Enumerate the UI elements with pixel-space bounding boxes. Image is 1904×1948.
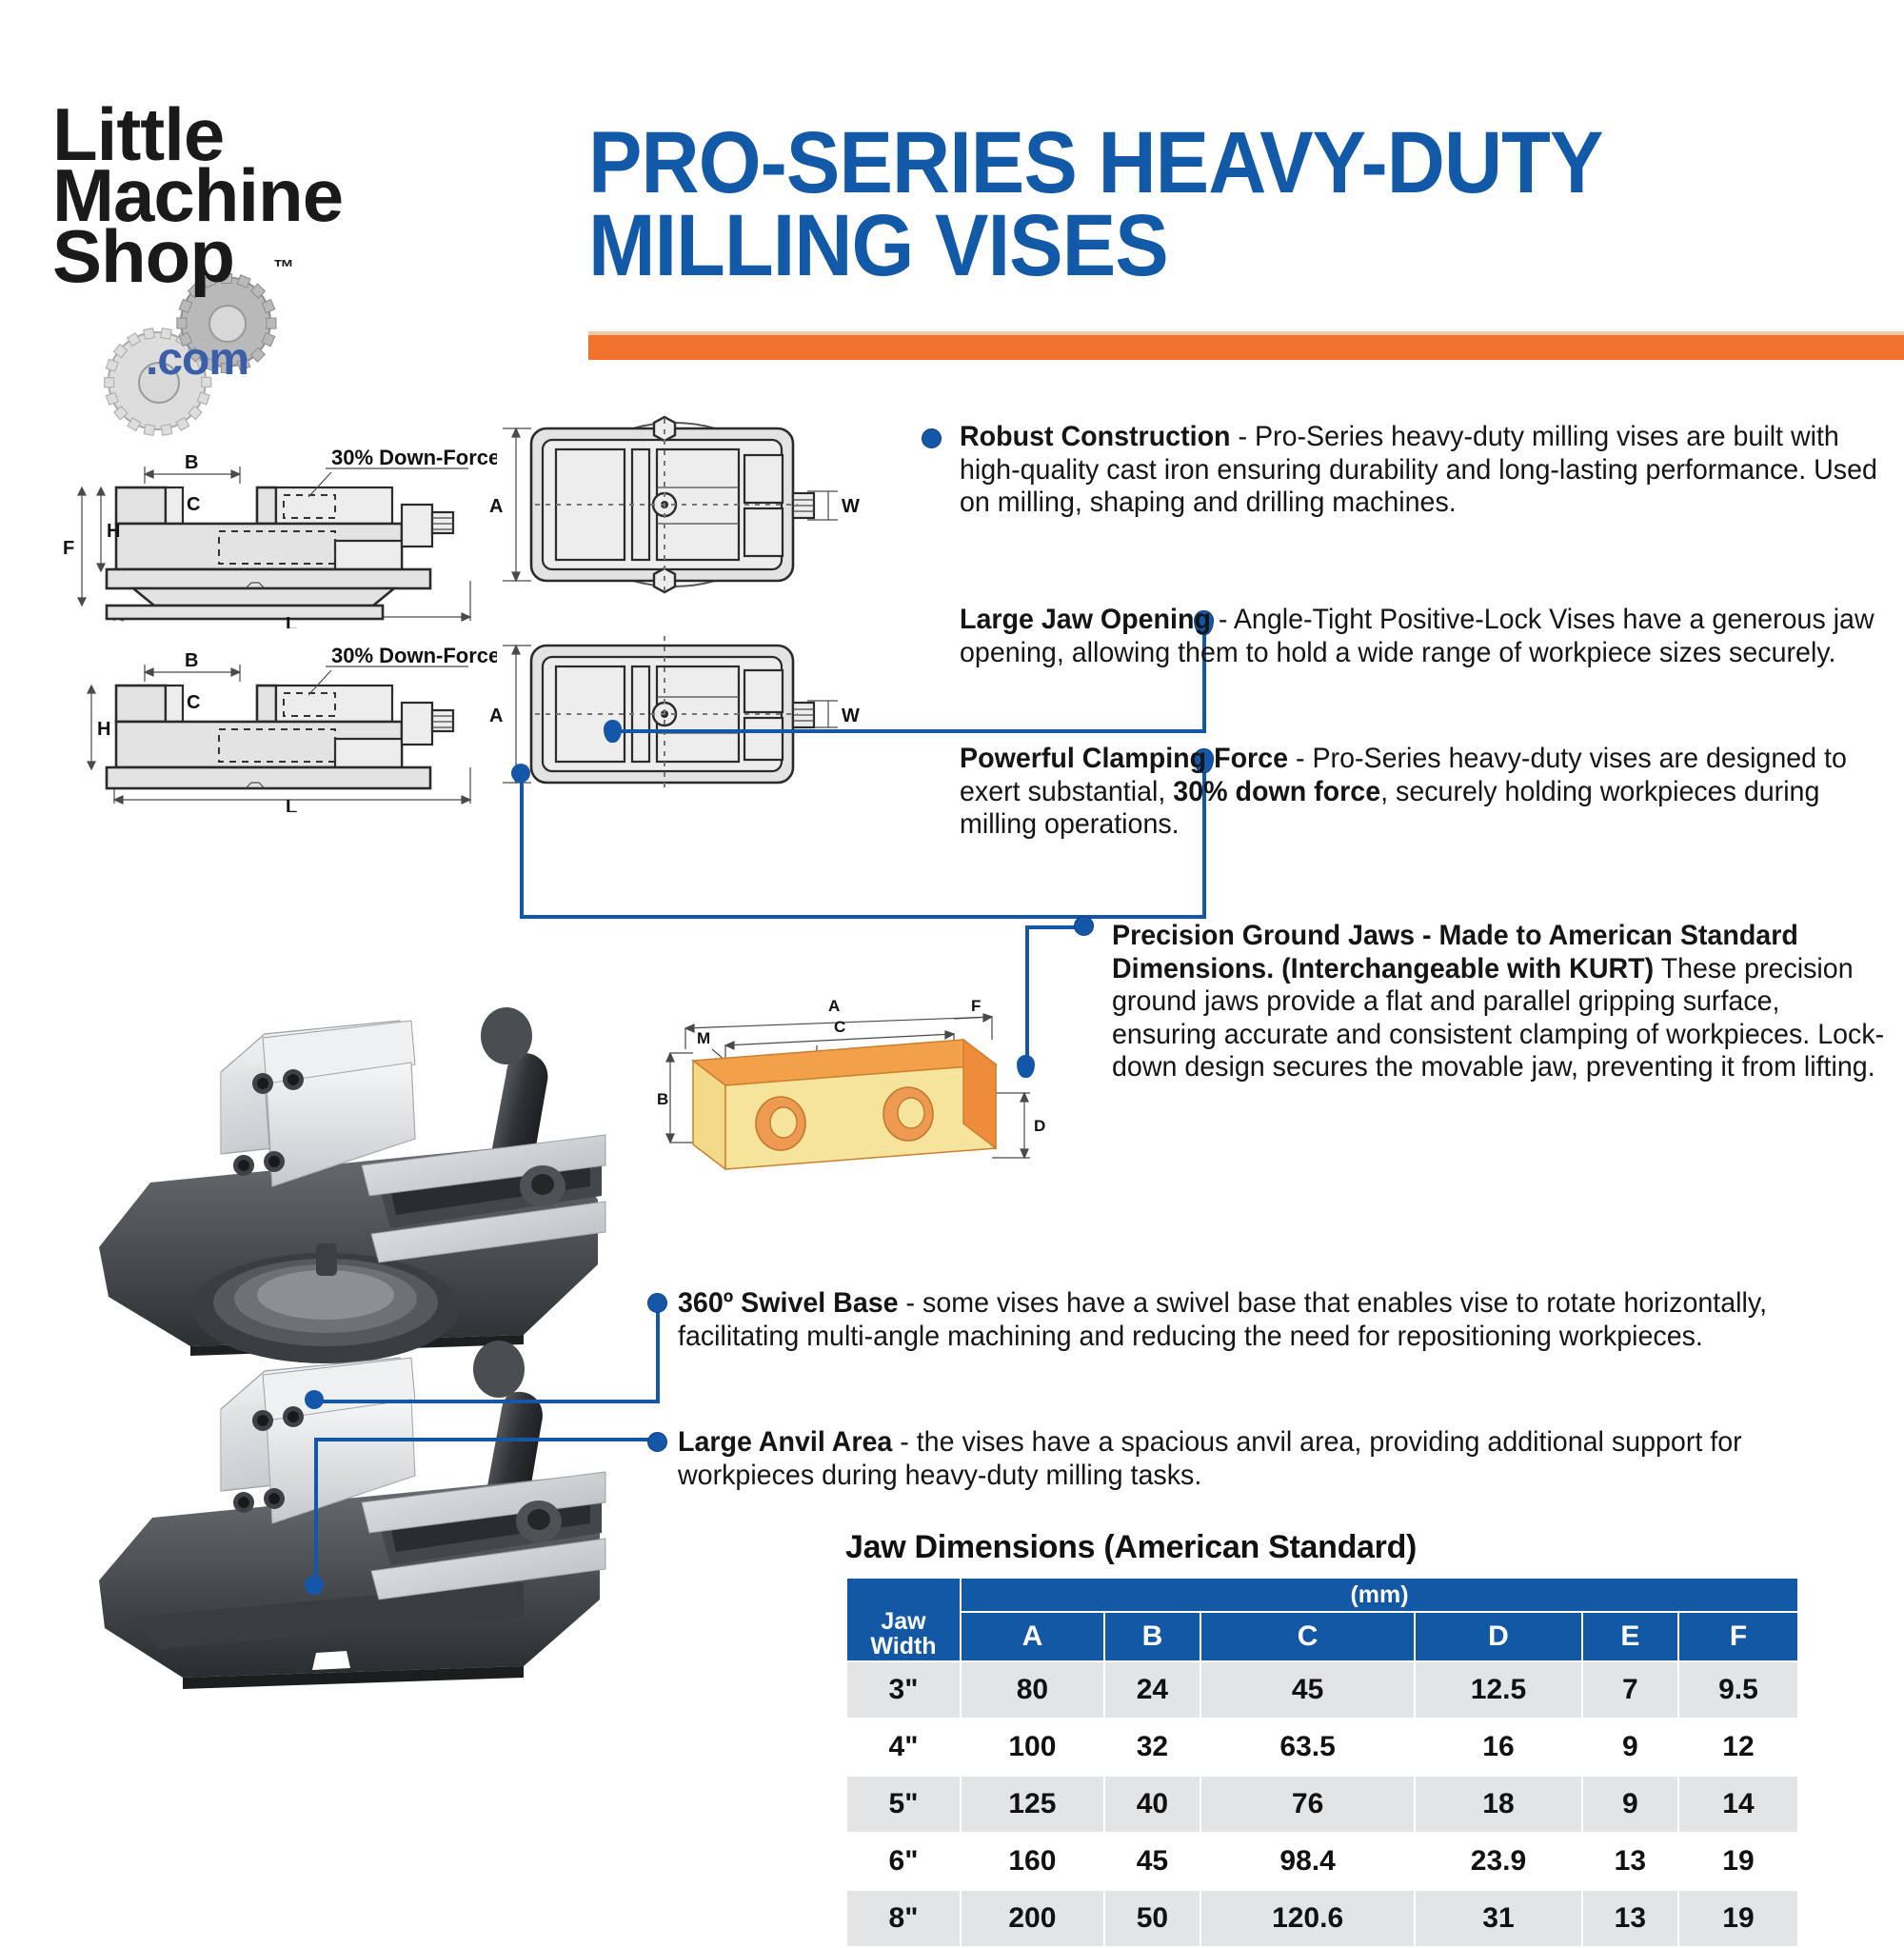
dim-label-w-top-1: W bbox=[842, 496, 860, 517]
connector-swivel-vertical bbox=[656, 1299, 660, 1403]
dim-label-b-2: B bbox=[185, 650, 198, 671]
dim-label-l: L bbox=[286, 614, 297, 628]
dim-label-a-jaw: A bbox=[828, 997, 840, 1015]
feature-dash-4: - bbox=[899, 1287, 922, 1319]
cell-f: 14 bbox=[1679, 1777, 1797, 1832]
annotation-down-force-1: 30% Down-Force bbox=[331, 447, 497, 469]
connector-anvil-vertical bbox=[314, 1438, 318, 1585]
cell-d: 16 bbox=[1416, 1719, 1581, 1775]
cell-a: 100 bbox=[962, 1719, 1103, 1775]
table-header-e: E bbox=[1583, 1613, 1677, 1660]
cell-b: 24 bbox=[1105, 1662, 1200, 1718]
table-row: 6" 160 45 98.4 23.9 13 19 bbox=[847, 1834, 1797, 1889]
cell-b: 45 bbox=[1105, 1834, 1200, 1889]
connector-endpoint-top-view-1 bbox=[604, 720, 622, 743]
cell-jaw-width: 3" bbox=[847, 1662, 960, 1718]
table-row: 8" 200 50 120.6 31 13 19 bbox=[847, 1891, 1797, 1946]
connector-jaw-opening-horizontal bbox=[611, 729, 1206, 733]
table-unit-label: (mm) bbox=[962, 1579, 1797, 1611]
feature-swivel-base: 360º Swivel Base - some vises have a swi… bbox=[678, 1287, 1869, 1353]
connector-precision-vertical bbox=[1025, 925, 1029, 1063]
cell-e: 9 bbox=[1583, 1719, 1677, 1775]
dim-label-h: H bbox=[107, 521, 120, 542]
dim-label-h-2: H bbox=[97, 719, 110, 740]
bullet-dot-robust-construction bbox=[922, 428, 942, 448]
cell-d: 31 bbox=[1416, 1891, 1581, 1946]
dim-label-m-jaw: M bbox=[697, 1029, 710, 1047]
cell-d: 18 bbox=[1416, 1777, 1581, 1832]
cell-a: 200 bbox=[962, 1891, 1103, 1946]
connector-endpoint-photo-1 bbox=[305, 1390, 324, 1409]
table-title: Jaw Dimensions (American Standard) bbox=[845, 1529, 1417, 1566]
cell-e: 13 bbox=[1583, 1834, 1677, 1889]
cell-jaw-width: 5" bbox=[847, 1777, 960, 1832]
cell-f: 19 bbox=[1679, 1891, 1797, 1946]
dim-label-c: C bbox=[187, 494, 200, 515]
table-header-d: D bbox=[1416, 1613, 1581, 1660]
table-row: 4" 100 32 63.5 16 9 12 bbox=[847, 1719, 1797, 1775]
feature-robust-construction: Robust Construction - Pro-Series heavy-d… bbox=[960, 421, 1883, 520]
drawing-side-view-2: B C H L 30% Down-Force bbox=[59, 646, 497, 812]
cell-e: 9 bbox=[1583, 1777, 1677, 1832]
logo-text-com: .com bbox=[146, 333, 248, 386]
brand-logo[interactable]: Little Machine Shop ™ .com bbox=[52, 105, 414, 352]
cell-b: 40 bbox=[1105, 1777, 1200, 1832]
dim-label-b: B bbox=[185, 452, 198, 473]
drawing-jaw-isometric: A C M B D F bbox=[657, 990, 1057, 1209]
feature-dash-0: - bbox=[1231, 421, 1255, 452]
dim-label-l-2: L bbox=[286, 797, 297, 812]
dim-label-b-jaw: B bbox=[657, 1090, 668, 1108]
feature-dash-5: - bbox=[892, 1426, 916, 1458]
jaw-dimensions-table: Jaw Width (mm) A B C D E F 3" 80 24 45 1… bbox=[845, 1577, 1799, 1948]
jaw-width-label-line2: Width bbox=[847, 1634, 960, 1659]
feature-precision-ground-jaws: Precision Ground Jaws - Made to American… bbox=[1112, 920, 1888, 1084]
table-header-a: A bbox=[962, 1613, 1103, 1660]
cell-c: 45 bbox=[1201, 1662, 1414, 1718]
table-header-f: F bbox=[1679, 1613, 1797, 1660]
cell-jaw-width: 6" bbox=[847, 1834, 960, 1889]
cell-a: 160 bbox=[962, 1834, 1103, 1889]
dim-label-c-jaw: C bbox=[834, 1018, 845, 1036]
vise-photo-plain-base bbox=[76, 1314, 609, 1714]
connector-endpoint-side-view-2 bbox=[511, 764, 530, 783]
bullet-dot-precision-ground-jaws bbox=[1074, 916, 1094, 936]
cell-c: 63.5 bbox=[1201, 1719, 1414, 1775]
cell-e: 13 bbox=[1583, 1891, 1677, 1946]
drawing-side-view-1: B C H F L 30% Down-Force bbox=[59, 447, 497, 628]
dim-label-a-top-2: A bbox=[489, 706, 503, 726]
cell-jaw-width: 4" bbox=[847, 1719, 960, 1775]
cell-e: 7 bbox=[1583, 1662, 1677, 1718]
feature-dash-1: - bbox=[1211, 604, 1234, 635]
table-header-jaw-width: Jaw Width bbox=[847, 1579, 960, 1660]
cell-c: 76 bbox=[1201, 1777, 1414, 1832]
table-header-c: C bbox=[1201, 1613, 1414, 1660]
feature-powerful-clamping-force: Powerful Clamping Force - Pro-Series hea… bbox=[960, 743, 1893, 842]
jaw-width-label-line1: Jaw bbox=[847, 1609, 960, 1634]
feature-heading-powerful-clamping-force: Powerful Clamping Force bbox=[960, 743, 1288, 774]
page-title: PRO-SERIES HEAVY-DUTY MILLING VISES bbox=[588, 122, 1622, 288]
connector-endpoint-jaw-drawing bbox=[1017, 1055, 1035, 1078]
dim-label-f-jaw: F bbox=[971, 997, 981, 1015]
dim-label-d-jaw: D bbox=[1034, 1117, 1045, 1135]
dim-label-f: F bbox=[63, 538, 74, 559]
dim-label-w-top-2: W bbox=[842, 706, 860, 726]
annotation-down-force-2: 30% Down-Force bbox=[331, 646, 497, 667]
table-column-header-row: A B C D E F bbox=[847, 1613, 1797, 1660]
bullet-dot-swivel-base bbox=[647, 1293, 667, 1313]
logo-text-shop: Shop bbox=[52, 227, 414, 288]
table-row: 3" 80 24 45 12.5 7 9.5 bbox=[847, 1662, 1797, 1718]
bullet-dot-large-anvil-area bbox=[647, 1432, 667, 1452]
drawing-top-view-1: A W bbox=[474, 400, 874, 609]
cell-d: 12.5 bbox=[1416, 1662, 1581, 1718]
connector-anvil-horizontal bbox=[314, 1438, 658, 1441]
cell-a: 125 bbox=[962, 1777, 1103, 1832]
feature-dash-2: - bbox=[1288, 743, 1312, 774]
cell-f: 12 bbox=[1679, 1719, 1797, 1775]
cell-f: 19 bbox=[1679, 1834, 1797, 1889]
cell-b: 50 bbox=[1105, 1891, 1200, 1946]
dim-label-a-top-1: A bbox=[489, 496, 503, 517]
feature-heading-swivel-base: 360º Swivel Base bbox=[678, 1287, 899, 1319]
feature-large-anvil-area: Large Anvil Area - the vises have a spac… bbox=[678, 1426, 1869, 1492]
table-row: 5" 125 40 76 18 9 14 bbox=[847, 1777, 1797, 1832]
cell-c: 120.6 bbox=[1201, 1891, 1414, 1946]
feature-heading-robust-construction: Robust Construction bbox=[960, 421, 1231, 452]
drawing-top-view-2: A W bbox=[474, 628, 874, 800]
dim-label-c-2: C bbox=[187, 692, 200, 713]
title-line-2: MILLING VISES bbox=[588, 205, 1622, 288]
cell-d: 23.9 bbox=[1416, 1834, 1581, 1889]
cell-c: 98.4 bbox=[1201, 1834, 1414, 1889]
connector-swivel-horizontal bbox=[314, 1400, 658, 1403]
feature-heading-large-jaw-opening: Large Jaw Opening bbox=[960, 604, 1211, 635]
table-unit-row: Jaw Width (mm) bbox=[847, 1579, 1797, 1611]
cell-a: 80 bbox=[962, 1662, 1103, 1718]
feature-large-jaw-opening: Large Jaw Opening - Angle-Tight Positive… bbox=[960, 604, 1883, 669]
feature-heading-large-anvil-area: Large Anvil Area bbox=[678, 1426, 892, 1458]
connector-clamping-vertical-2 bbox=[520, 773, 524, 918]
cell-jaw-width: 8" bbox=[847, 1891, 960, 1946]
cell-b: 32 bbox=[1105, 1719, 1200, 1775]
connector-clamping-horizontal bbox=[520, 915, 1206, 919]
cell-f: 9.5 bbox=[1679, 1662, 1797, 1718]
title-underline-bar bbox=[588, 335, 1904, 360]
table-header-b: B bbox=[1105, 1613, 1200, 1660]
connector-endpoint-photo-2 bbox=[305, 1576, 324, 1595]
feature-emphasis-down-force: 30% down force bbox=[1173, 776, 1380, 807]
